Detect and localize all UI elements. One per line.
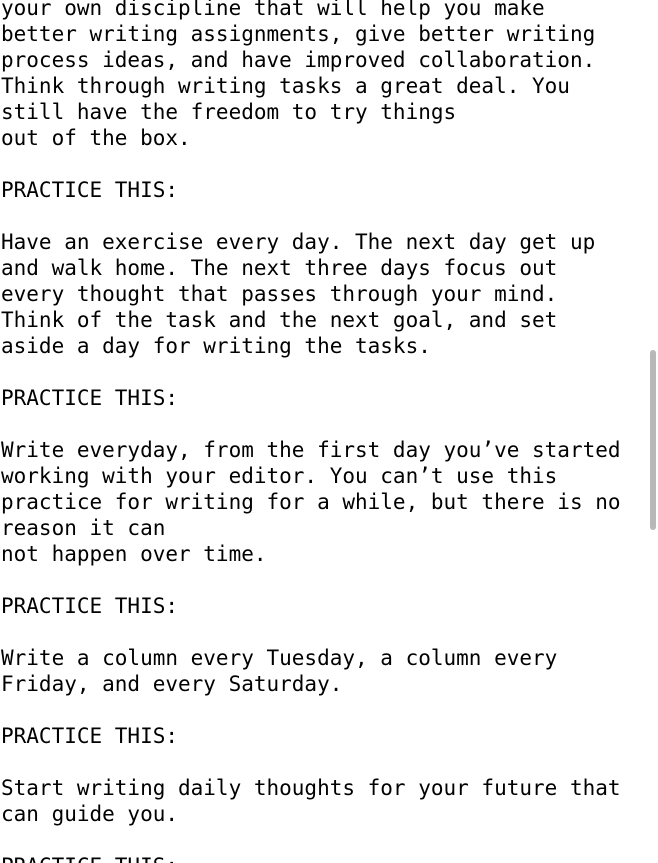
text-line: PRACTICE THIS: [1,177,648,203]
text-line: not happen over time. [1,541,648,567]
text-line-blank [1,619,648,645]
text-line: PRACTICE THIS: [1,593,648,619]
text-line: Friday, and every Saturday. [1,671,648,697]
document-text-body[interactable]: your own discipline that will help you m… [0,0,648,863]
text-line: still have the freedom to try things [1,99,648,125]
text-line-blank [1,749,648,775]
text-line-blank [1,359,648,385]
text-line: every thought that passes through your m… [1,281,648,307]
text-line: Think of the task and the next goal, and… [1,307,648,333]
text-line: practice for writing for a while, but th… [1,489,648,515]
vertical-scrollbar-thumb[interactable] [650,350,656,530]
text-line-blank [1,411,648,437]
text-line-blank [1,567,648,593]
text-line: and walk home. The next three days focus… [1,255,648,281]
text-line-blank [1,697,648,723]
text-line: Write everyday, from the first day you’v… [1,437,648,463]
document-viewport[interactable]: your own discipline that will help you m… [0,0,658,863]
text-line: process ideas, and have improved collabo… [1,47,648,73]
vertical-scrollbar-track[interactable] [648,0,658,863]
text-line: Think through writing tasks a great deal… [1,73,648,99]
text-line-blank [1,203,648,229]
text-line: Have an exercise every day. The next day… [1,229,648,255]
text-line: reason it can [1,515,648,541]
text-line: PRACTICE THIS: [1,385,648,411]
text-line: can guide you. [1,801,648,827]
text-line: PRACTICE THIS: [1,853,648,863]
text-line-blank [1,827,648,853]
text-line-blank [1,151,648,177]
text-line: aside a day for writing the tasks. [1,333,648,359]
text-line: working with your editor. You can’t use … [1,463,648,489]
text-line: Write a column every Tuesday, a column e… [1,645,648,671]
text-line: Start writing daily thoughts for your fu… [1,775,648,801]
text-line: your own discipline that will help you m… [1,0,648,21]
text-line: better writing assignments, give better … [1,21,648,47]
text-line: out of the box. [1,125,648,151]
text-line: PRACTICE THIS: [1,723,648,749]
